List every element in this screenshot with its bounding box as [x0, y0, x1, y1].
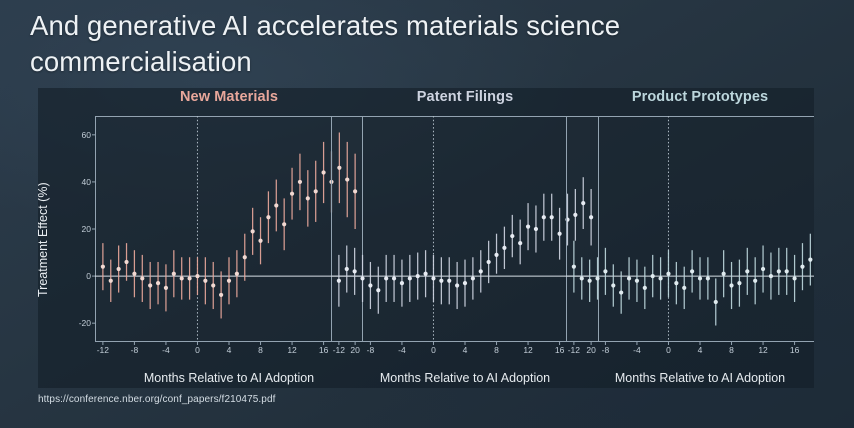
x-tick-label: 4 — [698, 345, 703, 355]
plot-frame — [566, 116, 814, 342]
x-tick-label: 8 — [494, 345, 499, 355]
y-axis-title: Treatment Effect (%) — [38, 182, 50, 297]
x-tick-label: 16 — [319, 345, 328, 355]
x-tick-label: 20 — [586, 345, 595, 355]
y-tick-label: 0 — [86, 271, 91, 281]
slide-background: And generative AI accelerates materials … — [0, 0, 854, 428]
x-tick-label: 12 — [287, 345, 296, 355]
plot-frame — [331, 116, 599, 342]
source-url-text: https://conference.nber.org/conf_papers/… — [38, 394, 276, 405]
x-tick-label: -12 — [333, 345, 345, 355]
x-tick-label: 0 — [666, 345, 671, 355]
x-tick-label: -12 — [568, 345, 580, 355]
x-tick-label: 12 — [758, 345, 767, 355]
x-tick-label: 16 — [555, 345, 564, 355]
x-tick-label: 0 — [195, 345, 200, 355]
x-tick-label: 16 — [790, 345, 799, 355]
x-axis-title: Months Relative to AI Adoption — [566, 371, 814, 385]
x-tick-label: -8 — [602, 345, 610, 355]
y-tick-label: -20 — [79, 318, 91, 328]
panel-title-patent-filings: Patent Filings — [331, 89, 599, 105]
y-tick-label: 60 — [82, 130, 91, 140]
x-tick-label: 12 — [523, 345, 532, 355]
x-tick-label: -8 — [131, 345, 139, 355]
x-tick-label: 8 — [258, 345, 263, 355]
panel-title-product-prototypes: Product Prototypes — [566, 89, 814, 105]
x-tick-label: -8 — [367, 345, 375, 355]
x-axis-title: Months Relative to AI Adoption — [95, 371, 363, 385]
plot-frame — [95, 116, 363, 342]
slide-title: And generative AI accelerates materials … — [30, 8, 770, 81]
x-tick-label: 4 — [227, 345, 232, 355]
x-tick-label: -4 — [162, 345, 170, 355]
x-tick-label: 0 — [431, 345, 436, 355]
x-tick-label: -4 — [398, 345, 406, 355]
x-tick-label: 4 — [463, 345, 468, 355]
panel-title-new-materials: New Materials — [95, 89, 363, 105]
x-tick-label: -12 — [97, 345, 109, 355]
x-axis-title: Months Relative to AI Adoption — [331, 371, 599, 385]
x-tick-label: 8 — [729, 345, 734, 355]
x-tick-label: -4 — [633, 345, 641, 355]
y-tick-label: 20 — [82, 224, 91, 234]
chart-container: Treatment Effect (%)New Materials-12-8-4… — [38, 88, 814, 388]
x-tick-label: 20 — [350, 345, 359, 355]
y-tick-label: 40 — [82, 177, 91, 187]
